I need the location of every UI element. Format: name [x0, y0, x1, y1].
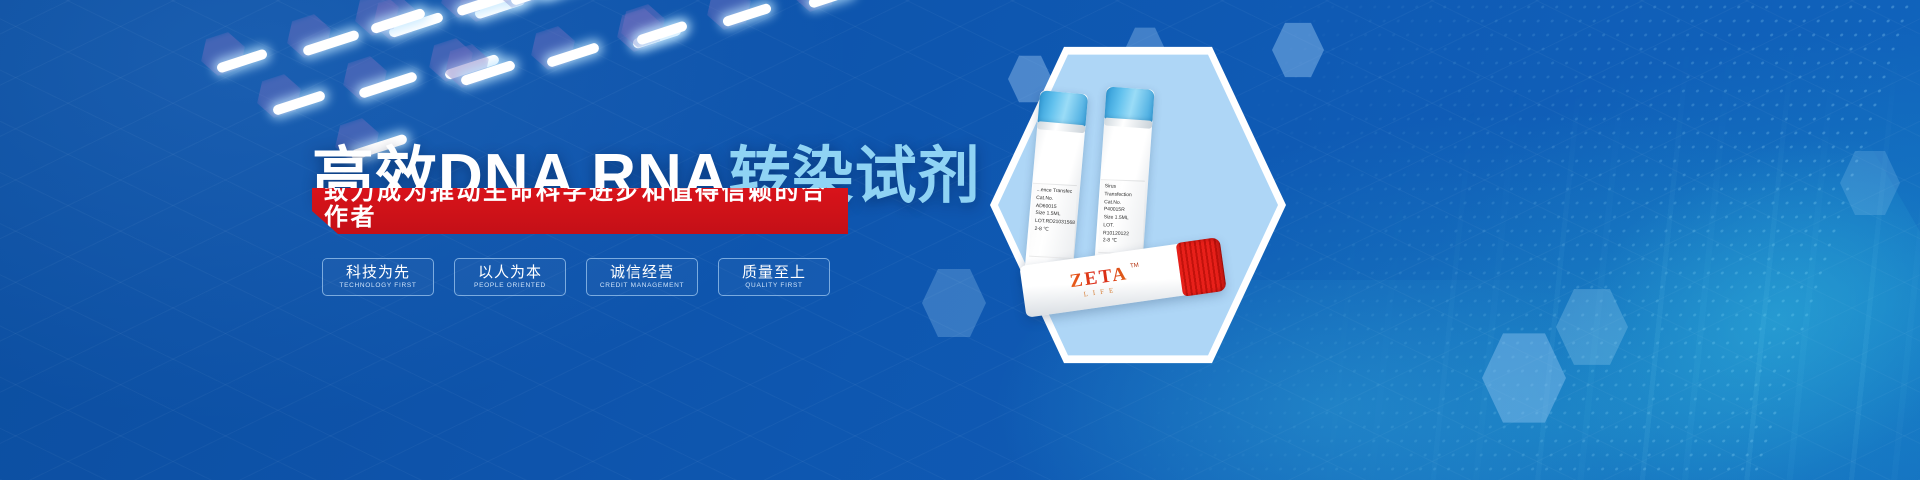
slogan-en: STRIVE TO BE A RELIABLE PARTNER IN PROMO…	[336, 233, 835, 243]
blue-cap-icon	[1037, 90, 1088, 128]
feature-badge-en: QUALITY FIRST	[745, 282, 802, 289]
vial-label-right: Sirus Transfection Cat.No. P40015R Size …	[1098, 179, 1145, 254]
slogan-banner: 致力成为推动生命科学进步和值得信赖的合作者 STRIVE TO BE A REL…	[312, 188, 848, 234]
vial-left: ...ence Transfec Cat.No. AD60015 Size 1.…	[1024, 90, 1088, 283]
feature-badge-list: 科技为先TECHNOLOGY FIRST以人为本PEOPLE ORIENTED诚…	[322, 258, 830, 296]
feature-badge-en: TECHNOLOGY FIRST	[339, 282, 416, 289]
banner-content: 高效DNA RNA转染试剂 致力成为推动生命科学进步和值得信赖的合作者 STRI…	[0, 0, 1000, 480]
trademark-icon: TM	[1130, 263, 1139, 270]
product-showcase: ...ence Transfec Cat.No. AD60015 Size 1.…	[930, 0, 1920, 480]
brand-logo: ZETA LIFE TM	[1069, 264, 1131, 300]
red-cap-icon	[1176, 237, 1227, 297]
feature-badge-cn: 以人为本	[478, 265, 542, 281]
feature-badge-cn: 诚信经营	[610, 265, 674, 281]
feature-badge-cn: 质量至上	[742, 265, 806, 281]
promo-banner: 高效DNA RNA转染试剂 致力成为推动生命科学进步和值得信赖的合作者 STRI…	[0, 0, 1920, 480]
feature-badge-en: CREDIT MANAGEMENT	[600, 282, 684, 289]
feature-badge-en: PEOPLE ORIENTED	[474, 282, 546, 289]
feature-badge[interactable]: 科技为先TECHNOLOGY FIRST	[322, 258, 434, 296]
product-vials: ...ence Transfec Cat.No. AD60015 Size 1.…	[1026, 70, 1256, 340]
feature-badge[interactable]: 诚信经营CREDIT MANAGEMENT	[586, 258, 698, 296]
vial-label-left: ...ence Transfec Cat.No. AD60015 Size 1.…	[1029, 183, 1077, 259]
feature-badge[interactable]: 以人为本PEOPLE ORIENTED	[454, 258, 566, 296]
blue-cap-icon	[1104, 87, 1154, 124]
feature-badge-cn: 科技为先	[346, 265, 410, 281]
feature-badge[interactable]: 质量至上QUALITY FIRST	[718, 258, 830, 296]
